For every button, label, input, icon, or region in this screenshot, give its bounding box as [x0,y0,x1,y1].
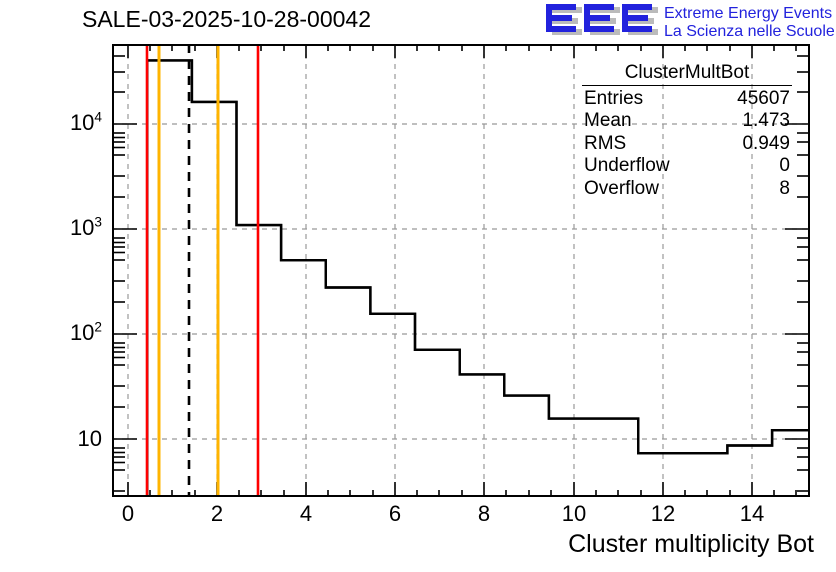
eee-logo-line2: La Scienza nelle Scuole [664,23,834,40]
stats-row-entries: Entries 45607 [576,88,798,110]
stats-title: ClusterMultBot [582,62,792,86]
stats-value-mean: 1.473 [742,110,790,132]
x-tick-label-14: 14 [732,503,772,525]
eee-logo-line1: Extreme Energy Events [664,5,832,22]
y-tick-exp-4: 4 [94,110,102,125]
stats-key-underflow: Underflow [584,155,670,177]
x-axis-title: Cluster multiplicity Bot [568,530,814,559]
x-tick-label-4: 4 [286,503,326,525]
stats-value-entries: 45607 [737,88,790,110]
stats-value-underflow: 0 [779,155,790,177]
stats-key-entries: Entries [584,88,643,110]
stats-box: ClusterMultBot Entries 45607 Mean 1.473 … [576,62,798,206]
x-tick-label-8: 8 [464,503,504,525]
stats-row-rms: RMS 0.949 [576,133,798,155]
stats-row-overflow: Overflow 8 [576,178,798,200]
stats-row-underflow: Underflow 0 [576,155,798,177]
y-tick-label-100: 102 [30,322,102,344]
stats-key-mean: Mean [584,110,632,132]
y-tick-label-1000: 103 [30,217,102,239]
y-tick-exp-2: 2 [94,320,102,335]
stats-row-mean: Mean 1.473 [576,110,798,132]
chart-canvas: SALE-03-2025-10-28-00042 [0,0,836,572]
x-tick-label-10: 10 [554,503,594,525]
eee-logo: Extreme Energy Events La Scienza nelle S… [538,2,834,44]
stats-key-overflow: Overflow [584,178,659,200]
stats-value-overflow: 8 [779,178,790,200]
x-tick-label-12: 12 [643,503,683,525]
x-tick-label-6: 6 [375,503,415,525]
y-tick-label-10000: 104 [30,112,102,134]
eee-logo-icon: Extreme Energy Events La Scienza nelle S… [538,2,834,44]
y-tick-exp-3: 3 [94,215,102,230]
x-tick-label-2: 2 [197,503,237,525]
stats-value-rms: 0.949 [742,133,790,155]
y-tick-label-10: 10 [30,428,102,450]
stats-key-rms: RMS [584,133,626,155]
eee-logo-mark [546,4,652,32]
page-title: SALE-03-2025-10-28-00042 [82,6,371,33]
x-tick-label-0: 0 [108,503,148,525]
